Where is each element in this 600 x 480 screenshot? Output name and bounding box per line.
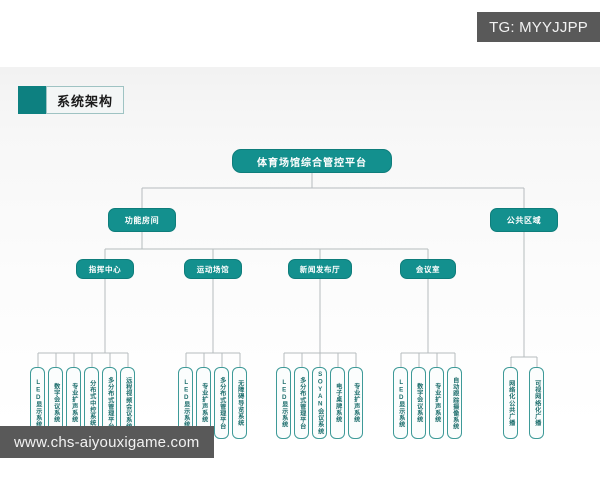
leaf-chip[interactable]: 数字会议系统 [411,367,426,439]
leaf-label: 专业扩声系统 [200,383,207,423]
node-group-meeting-room[interactable]: 会议室 [400,259,456,279]
leaf-label: LED显示系统 [34,379,41,428]
node-group-sports-venue[interactable]: 运动场馆 [184,259,242,279]
node-level2-public-area[interactable]: 公共区域 [490,208,558,232]
leaf-label: 远程视频会议系统 [124,377,131,430]
architecture-diagram: 体育场馆综合管控平台 功能房间 公共区域 指挥中心 运动场馆 新闻发布厅 会议室… [0,67,600,427]
leaf-chip[interactable]: LED显示系统 [393,367,408,439]
leaf-label: 分布式中控系统 [88,380,95,426]
leaf-chip[interactable]: 无障碍导览系统 [232,367,247,439]
watermark-bottom: www.chs-aiyouxigame.com [0,426,214,458]
leaf-label: 多分布式管理平台 [218,377,225,430]
slide-canvas: 系统架构 [0,67,600,427]
node-group-press-hall[interactable]: 新闻发布厅 [288,259,352,279]
node-group-command-center[interactable]: 指挥中心 [76,259,134,279]
node-root[interactable]: 体育场馆综合管控平台 [232,149,392,173]
leaf-label: 数字会议系统 [52,383,59,423]
leaf-chip[interactable]: 网络化公共广播 [503,367,518,439]
leaf-label: LED显示系统 [280,379,287,428]
leaf-label: LED显示系统 [182,379,189,428]
leaf-chip[interactable]: 自动跟踪摄像系统 [447,367,462,439]
leaf-label: LED显示系统 [397,379,404,428]
leaf-label: 电子桌牌系统 [334,383,341,423]
leaf-label: 数字会议系统 [415,383,422,423]
leaf-label: 多分布式管理平台 [298,377,305,430]
leaf-label: 可视网络化广播 [533,380,540,426]
leaf-chip[interactable]: 专业扩声系统 [429,367,444,439]
leaf-label: 网络化公共广播 [507,380,514,426]
leaf-label: SOYAN会议系统 [316,371,323,434]
leaf-label: 无障碍导览系统 [236,380,243,426]
leaf-chip[interactable]: LED显示系统 [276,367,291,439]
leaf-chip[interactable]: 可视网络化广播 [529,367,544,439]
node-level2-functional-rooms[interactable]: 功能房间 [108,208,176,232]
leaf-chip[interactable]: SOYAN会议系统 [312,367,327,439]
leaf-label: 专业扩声系统 [70,383,77,423]
leaf-chip[interactable]: 专业扩声系统 [348,367,363,439]
leaf-label: 专业扩声系统 [433,383,440,423]
leaf-label: 自动跟踪摄像系统 [451,377,458,430]
leaf-chip[interactable]: 多分布式管理平台 [294,367,309,439]
watermark-top: TG: MYYJJPP [477,12,600,42]
leaf-label: 多分布式管理平台 [106,377,113,430]
leaf-chip[interactable]: 多分布式管理平台 [214,367,229,439]
leaf-label: 专业扩声系统 [352,383,359,423]
leaf-chip[interactable]: 电子桌牌系统 [330,367,345,439]
